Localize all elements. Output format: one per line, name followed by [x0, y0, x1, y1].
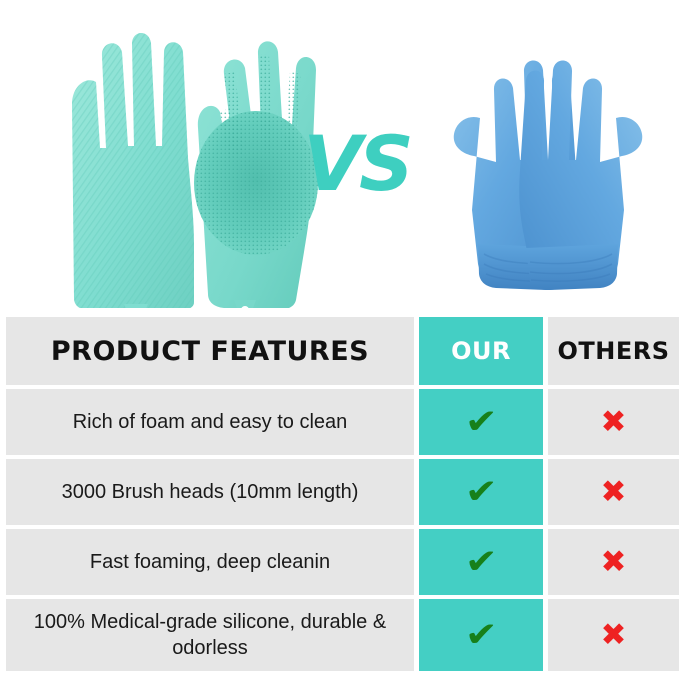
- others-cell: ✖: [548, 529, 679, 595]
- our-cell: ✔: [419, 599, 543, 671]
- our-cell: ✔: [419, 459, 543, 525]
- table-row: Rich of foam and easy to clean ✔ ✖: [0, 389, 679, 455]
- mint-silicone-gloves-image: [28, 8, 318, 308]
- header-label-our: OUR: [451, 337, 511, 365]
- table-header-row: PRODUCT FEATURES OUR OTHERS: [0, 317, 679, 385]
- product-comparison-table: PRODUCT FEATURES OUR OTHERS Rich of foam…: [0, 317, 679, 675]
- hero-product-comparison-image: VS: [0, 0, 679, 317]
- cross-icon: ✖: [601, 547, 627, 578]
- feature-cell: 3000 Brush heads (10mm length): [6, 459, 414, 525]
- cross-icon: ✖: [601, 407, 627, 438]
- blue-nitrile-gloves-image: [420, 30, 676, 292]
- feature-label: Rich of foam and easy to clean: [73, 409, 348, 435]
- header-label-product-features: PRODUCT FEATURES: [51, 336, 369, 367]
- our-cell: ✔: [419, 529, 543, 595]
- check-icon: ✔: [465, 475, 498, 509]
- table-row: 100% Medical-grade silicone, durable & o…: [0, 599, 679, 671]
- table-row: Fast foaming, deep cleanin ✔ ✖: [0, 529, 679, 595]
- others-cell: ✖: [548, 599, 679, 671]
- check-icon: ✔: [465, 405, 498, 439]
- header-cell-our: OUR: [419, 317, 543, 385]
- others-cell: ✖: [548, 459, 679, 525]
- cross-icon: ✖: [601, 620, 627, 651]
- table-row: 3000 Brush heads (10mm length) ✔ ✖: [0, 459, 679, 525]
- header-cell-others: OTHERS: [548, 317, 679, 385]
- feature-label: 3000 Brush heads (10mm length): [62, 479, 359, 505]
- versus-label: VS: [296, 108, 418, 220]
- header-cell-product-features: PRODUCT FEATURES: [6, 317, 414, 385]
- feature-cell: Rich of foam and easy to clean: [6, 389, 414, 455]
- cross-icon: ✖: [601, 477, 627, 508]
- header-label-others: OTHERS: [557, 337, 669, 365]
- feature-cell: Fast foaming, deep cleanin: [6, 529, 414, 595]
- versus-graphic: VS: [296, 108, 418, 220]
- feature-label: Fast foaming, deep cleanin: [90, 549, 330, 575]
- feature-label: 100% Medical-grade silicone, durable & o…: [20, 609, 400, 662]
- feature-cell: 100% Medical-grade silicone, durable & o…: [6, 599, 414, 671]
- check-icon: ✔: [465, 618, 498, 652]
- our-cell: ✔: [419, 389, 543, 455]
- others-cell: ✖: [548, 389, 679, 455]
- check-icon: ✔: [465, 545, 498, 579]
